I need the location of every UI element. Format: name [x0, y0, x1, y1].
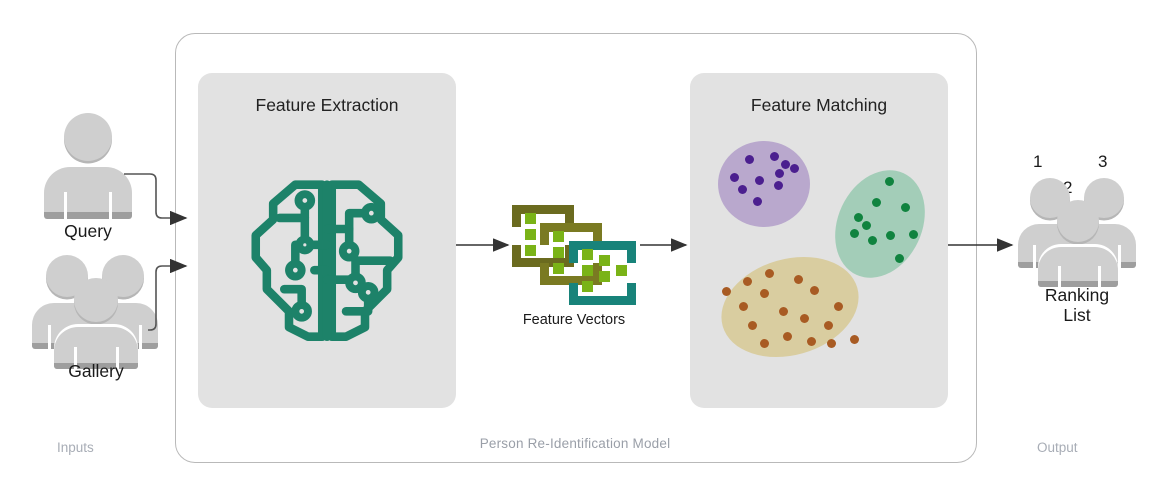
cluster-green-dot [872, 198, 881, 207]
cluster-brown-dot [743, 277, 752, 286]
feature-vectors-icon[interactable] [512, 197, 636, 307]
ranking-list-icon[interactable] [1018, 178, 1136, 286]
rank-head-center [1057, 200, 1099, 242]
cluster-green-dot [886, 231, 895, 240]
cluster-green-dot [901, 203, 910, 212]
cluster-brown-dot [760, 339, 769, 348]
rank-left-gap [1033, 245, 1036, 268]
cluster-green-dot [909, 230, 918, 239]
cluster-purple-dot [745, 155, 754, 164]
cluster-purple-dot [775, 169, 784, 178]
cluster-green-dot [885, 177, 894, 186]
feature-matching-title: Feature Matching [690, 95, 948, 116]
cluster-purple-dot [770, 152, 779, 161]
cluster-purple-dot [730, 173, 739, 182]
cluster-green-dot [868, 236, 877, 245]
cluster-green-dot [850, 229, 859, 238]
rank-center-gap-left [1058, 266, 1061, 287]
cluster-green-dot [862, 221, 871, 230]
feature-matching-panel[interactable]: Feature Matching [690, 73, 948, 408]
cluster-brown-dot [827, 339, 836, 348]
rank-number-3: 3 [1098, 152, 1107, 172]
feature-vectors-label: Feature Vectors [490, 312, 658, 328]
wire-query-to-model [124, 174, 186, 218]
cluster-green-dot [895, 254, 904, 263]
cluster-brown-dot [794, 275, 803, 284]
ranking-list-label-line2: List [1012, 306, 1142, 326]
cluster-brown-dot [834, 302, 843, 311]
cluster-brown-dot [748, 321, 757, 330]
rank-right-gap [1118, 245, 1121, 268]
cluster-brown-dot [810, 286, 819, 295]
cluster-brown-dot [800, 314, 809, 323]
cluster-purple[interactable] [718, 141, 810, 227]
rank-number-1: 1 [1033, 152, 1042, 172]
diagram-canvas: Person Re-Identification Model Inputs Ou… [0, 0, 1166, 497]
cluster-brown-dot [807, 337, 816, 346]
cluster-purple-dot [790, 164, 799, 173]
cluster-purple-dot [781, 160, 790, 169]
circuit-brain-icon [232, 165, 422, 350]
feature-extraction-panel[interactable]: Feature Extraction [198, 73, 456, 408]
feature-extraction-title: Feature Extraction [198, 95, 456, 116]
cluster-brown-dot [824, 321, 833, 330]
cluster-brown-dot [783, 332, 792, 341]
cluster-brown-dot [739, 302, 748, 311]
cluster-brown-dot [779, 307, 788, 316]
wire-gallery-to-model [148, 266, 186, 330]
cluster-brown-dot [850, 335, 859, 344]
cluster-purple-dot [753, 197, 762, 206]
cluster-brown-dot [760, 289, 769, 298]
cluster-brown-dot [722, 287, 731, 296]
ranking-list-label-line1: Ranking [1012, 286, 1142, 306]
cluster-green-dot [854, 213, 863, 222]
cluster-brown-dot [765, 269, 774, 278]
cluster-purple-dot [774, 181, 783, 190]
rank-center-gap-right [1098, 266, 1101, 287]
cluster-purple-dot [738, 185, 747, 194]
cluster-purple-dot [755, 176, 764, 185]
